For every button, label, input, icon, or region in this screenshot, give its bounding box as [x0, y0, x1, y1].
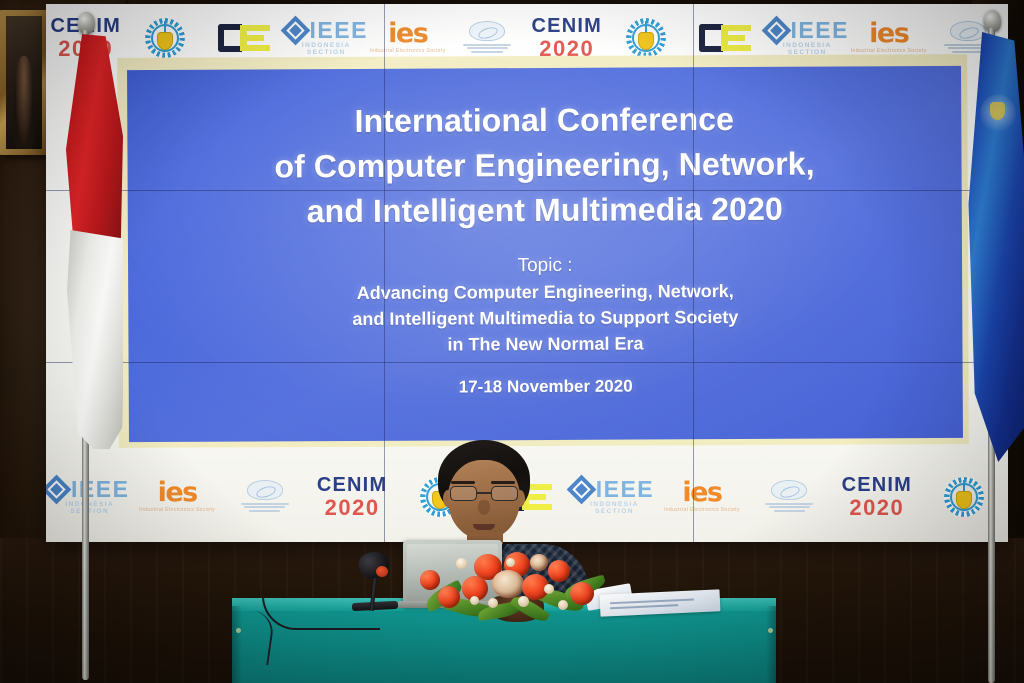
- ieee-logo-row: IEEE: [46, 479, 133, 500]
- ai-brain-icon: [469, 21, 505, 41]
- rose-bloom-pale: [492, 570, 524, 598]
- flower-bud: [488, 598, 498, 608]
- ieee-logo: IEEEINDONESIA SECTION: [46, 479, 133, 515]
- ies-wordmark: ies: [664, 481, 740, 505]
- flower-bud: [558, 600, 568, 610]
- logo-slot: iesIndustrial Electronics Society: [658, 462, 745, 532]
- ies-logo: iesIndustrial Electronics Society: [370, 22, 446, 54]
- flower-bud: [506, 558, 515, 567]
- conference-photo-scene: CENIM2020IEEEINDONESIA SECTIONiesIndustr…: [0, 0, 1024, 683]
- ai-healthcare-logo-icon: [763, 480, 815, 514]
- flag-institution: [966, 32, 1024, 462]
- ce-letter-c: [699, 24, 723, 52]
- ies-society-label: Industrial Electronics Society: [664, 507, 740, 513]
- rose-bloom: [548, 560, 570, 582]
- ai-healthcare-logo-icon: [239, 480, 291, 514]
- flag-institution-shield: [990, 102, 1005, 120]
- flower-bud: [470, 596, 479, 605]
- ieee-diamond-icon: [46, 475, 71, 505]
- document-text-line: [610, 598, 694, 603]
- ies-wordmark: ies: [851, 22, 927, 46]
- logo-slot: [221, 462, 308, 532]
- its-ring: [950, 483, 978, 511]
- video-wall-bezel-horizontal: [46, 190, 1008, 191]
- logo-slot: iesIndustrial Electronics Society: [133, 462, 220, 532]
- portrait-canvas: [6, 16, 42, 149]
- its-emblem-icon: [145, 18, 185, 58]
- caption-line: [249, 510, 281, 512]
- ce-letter-e-arm: [721, 45, 751, 51]
- table-shadow-left: [232, 606, 242, 683]
- computer-engineering-logo-icon: [218, 24, 272, 52]
- presentation-slide: International Conference of Computer Eng…: [127, 66, 963, 442]
- eyeglass-lens-right: [491, 486, 518, 501]
- flower-bud: [544, 584, 554, 594]
- flag-indonesia-white-band: [67, 230, 123, 449]
- flower-bud: [518, 596, 529, 607]
- ieee-wordmark: IEEE: [71, 479, 129, 500]
- ce-letter-e-bar: [721, 25, 728, 51]
- shield-icon: [638, 32, 654, 50]
- microphone-indicator-light: [376, 566, 388, 577]
- ieee-wordmark: IEEE: [791, 20, 849, 41]
- ieee-logo-row: IEEE: [285, 20, 368, 41]
- speaker-nose: [478, 500, 490, 515]
- its-emblem-icon: [944, 477, 984, 517]
- slide-text-block: International Conference of Computer Eng…: [127, 96, 963, 399]
- ai-brain-icon: [771, 480, 807, 500]
- slide-title-line-1: International Conference: [127, 96, 961, 145]
- flower-bud: [456, 558, 467, 569]
- ieee-wordmark: IEEE: [596, 479, 654, 500]
- flag-indonesia: [61, 34, 123, 449]
- slide-title-line-2: of Computer Engineering, Network,: [127, 141, 961, 190]
- ai-healthcare-caption: [241, 501, 289, 513]
- tablecloth-pin: [236, 628, 241, 633]
- eyeglass-lens-left: [450, 486, 477, 501]
- ies-wordmark: ies: [370, 22, 446, 46]
- its-emblem-icon: [626, 18, 666, 58]
- cenim-year: 2020: [842, 497, 912, 519]
- ies-society-label: Industrial Electronics Society: [139, 507, 215, 513]
- its-ring: [151, 24, 179, 52]
- computer-engineering-logo-icon: [699, 24, 753, 52]
- caption-line: [241, 503, 289, 505]
- logo-slot: CENIM2020: [308, 462, 395, 532]
- gear-icon: [944, 477, 984, 517]
- ai-healthcare-caption: [463, 42, 511, 54]
- its-stem: [645, 21, 647, 35]
- shield-icon: [157, 32, 173, 50]
- ieee-logo: IEEEINDONESIA SECTION: [766, 20, 849, 56]
- gear-icon: [145, 18, 185, 58]
- table-shadow-right: [766, 606, 776, 683]
- ies-logo: iesIndustrial Electronics Society: [851, 22, 927, 54]
- ieee-section-label: INDONESIA SECTION: [46, 501, 133, 515]
- logo-slot: [746, 462, 833, 532]
- tablecloth-pin: [768, 628, 773, 633]
- ieee-logo-row: IEEE: [766, 20, 849, 41]
- ieee-wordmark: IEEE: [310, 20, 368, 41]
- cenim-logo: CENIM2020: [842, 475, 912, 519]
- its-ring: [632, 24, 660, 52]
- rose-bloom: [438, 586, 460, 608]
- cenim-year: 2020: [317, 497, 387, 519]
- rose-bloom-pale: [530, 554, 548, 571]
- ce-letter-c: [218, 24, 242, 52]
- ieee-diamond-icon: [280, 16, 310, 46]
- video-wall-bezel-vertical: [693, 4, 694, 542]
- flag-indonesia-red-band: [61, 34, 123, 256]
- slide-topic-line-3: in The New Normal Era: [128, 329, 962, 359]
- its-stem: [164, 21, 166, 35]
- video-wall-bezel-vertical: [384, 4, 385, 542]
- ai-healthcare-caption: [765, 501, 813, 513]
- microphone-cable: [262, 596, 380, 630]
- cenim-logo: CENIM2020: [317, 475, 387, 519]
- caption-line: [463, 44, 511, 46]
- ies-logo: iesIndustrial Electronics Society: [139, 481, 215, 513]
- ies-wordmark: ies: [139, 481, 215, 505]
- ieee-section-label: INDONESIA SECTION: [285, 42, 368, 56]
- speaker-mouth: [473, 524, 495, 530]
- caption-line: [244, 506, 285, 508]
- ai-brain-icon: [247, 480, 283, 500]
- ce-letter-e-bar: [240, 25, 247, 51]
- shield-icon: [956, 491, 972, 509]
- cenim-wordmark: CENIM: [317, 475, 387, 495]
- cenim-wordmark: CENIM: [532, 16, 602, 36]
- portrait-figure: [14, 56, 34, 149]
- cenim-wordmark: CENIM: [842, 475, 912, 495]
- ce-letter-e-arm: [240, 25, 270, 31]
- framed-portrait: [0, 10, 48, 155]
- ce-letter-e-arm: [240, 45, 270, 51]
- cenim-logo: CENIM2020: [532, 16, 602, 60]
- document-text-line: [610, 604, 678, 609]
- ies-society-label: Industrial Electronics Society: [370, 48, 446, 54]
- caption-line: [467, 47, 508, 49]
- ieee-diamond-icon: [761, 16, 791, 46]
- logo-slot: IEEEINDONESIA SECTION: [46, 462, 133, 532]
- ai-healthcare-logo-icon: [461, 21, 513, 55]
- flower-arrangement: [418, 552, 614, 622]
- caption-line: [471, 51, 503, 53]
- logo-slot: CENIM2020: [833, 462, 920, 532]
- video-wall-bezel-horizontal: [46, 362, 1008, 363]
- rose-bloom: [420, 570, 440, 590]
- caption-line: [774, 510, 806, 512]
- speaker-eyebrow-left: [451, 481, 475, 484]
- ce-letter-e-arm: [721, 25, 751, 31]
- caption-line: [769, 506, 810, 508]
- eyeglass-bridge: [477, 492, 491, 494]
- ies-logo: iesIndustrial Electronics Society: [664, 481, 740, 513]
- speaker-eyebrow-right: [491, 481, 515, 484]
- gear-icon: [626, 18, 666, 58]
- ies-society-label: Industrial Electronics Society: [851, 48, 927, 54]
- ce-letter-e-arm: [721, 35, 745, 41]
- slide-title-line-3: and Intelligent Multimedia 2020: [128, 186, 962, 235]
- ieee-logo: IEEEINDONESIA SECTION: [285, 20, 368, 56]
- caption-line: [765, 503, 813, 505]
- rose-bloom: [570, 582, 594, 605]
- its-stem: [963, 480, 965, 494]
- ce-letter-e-arm: [240, 35, 264, 41]
